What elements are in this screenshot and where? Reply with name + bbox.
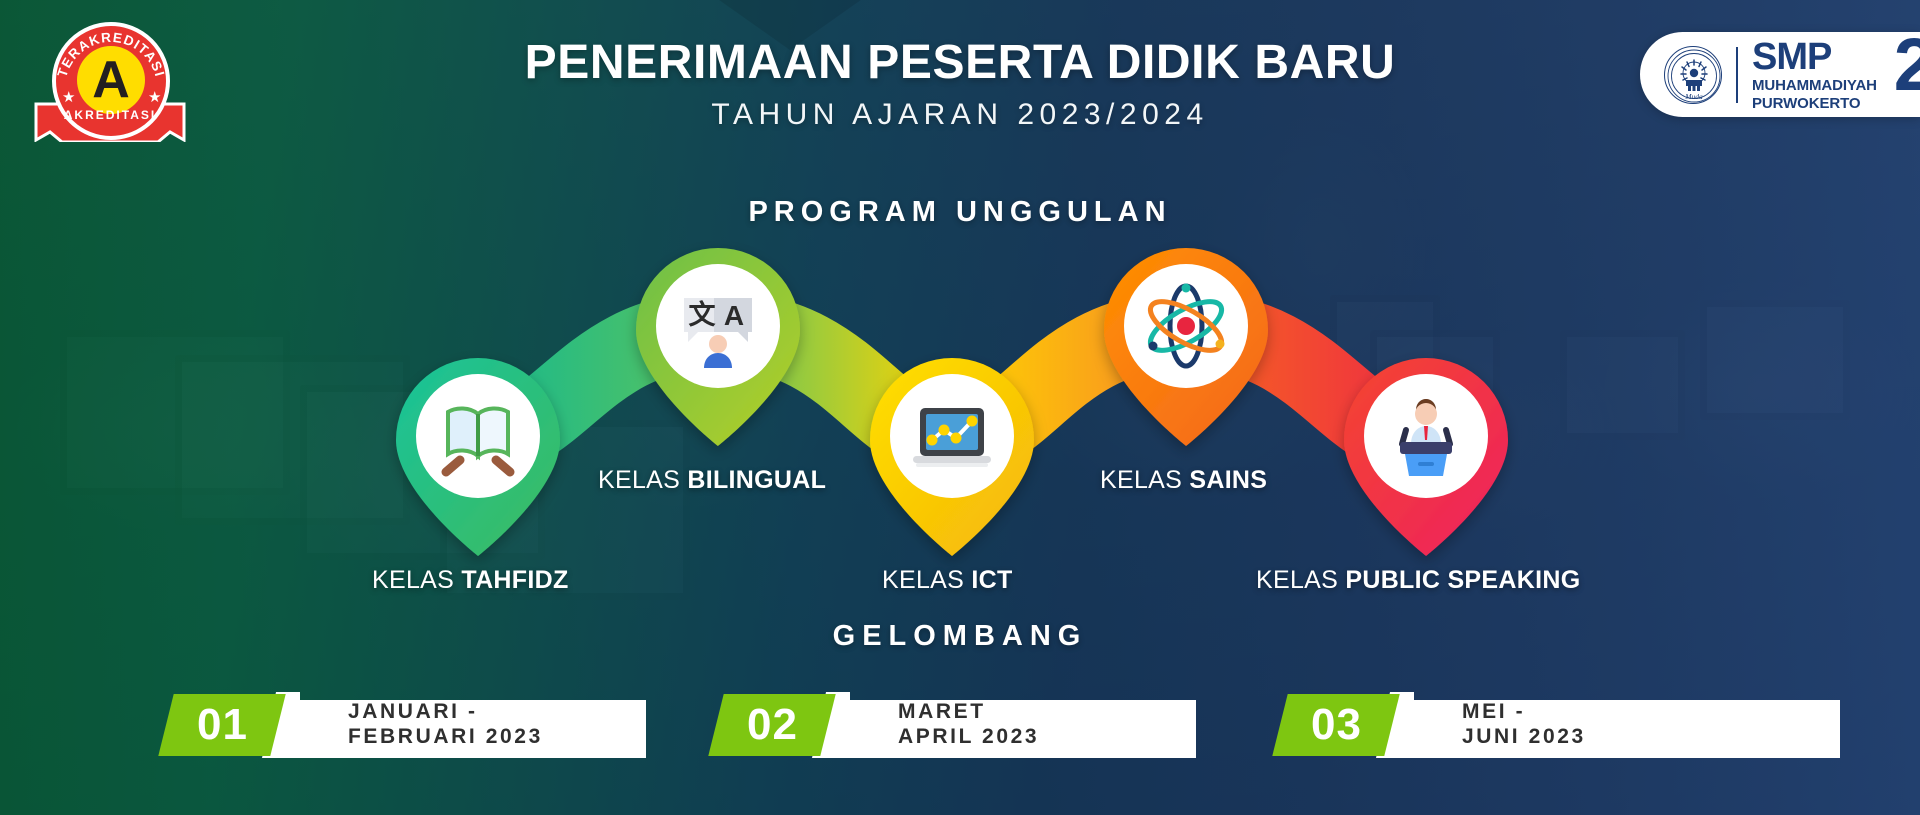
translate-icon: 文 A	[670, 278, 766, 374]
label-name: TAHFIDZ	[461, 566, 568, 594]
wave-banner: MARET APRIL 2023	[788, 692, 1196, 758]
pin-label-public-speaking: KELAS PUBLIC SPEAKING	[1256, 566, 1580, 595]
wave-banner: JANUARI - FEBRUARI 2023	[238, 692, 646, 758]
wave-number: 02	[747, 703, 798, 747]
waves-heading: GELOMBANG	[0, 620, 1920, 653]
label-name: PUBLIC SPEAKING	[1345, 566, 1580, 594]
wave-banner: MEI - JUNI 2023	[1352, 692, 1840, 758]
pin-label-sains: KELAS SAINS	[1100, 466, 1267, 495]
label-prefix: KELAS	[1256, 566, 1338, 594]
wave-item-2[interactable]: 02 MARET APRIL 2023	[716, 692, 1196, 758]
label-prefix: KELAS	[1100, 466, 1182, 494]
label-name: ICT	[971, 566, 1012, 594]
wave-number-badge: 01	[158, 694, 285, 756]
svg-text:文: 文	[689, 299, 717, 331]
accreditation-ribbon-label: AKREDITASI	[30, 108, 190, 122]
svg-text:A: A	[724, 300, 744, 331]
wave-item-1[interactable]: 01 JANUARI - FEBRUARI 2023	[166, 692, 646, 758]
label-name: BILINGUAL	[687, 466, 826, 494]
laptop-chart-icon	[904, 388, 1000, 484]
poster-canvas: TERAKREDITASI ★ ★ A AKREDITASI PENERIMAA…	[0, 0, 1920, 815]
podium-icon	[1378, 388, 1474, 484]
wave-item-3[interactable]: 03 MEI - JUNI 2023	[1280, 692, 1760, 758]
wave-period: MARET APRIL 2023	[898, 700, 1039, 750]
pin-label-ict: KELAS ICT	[882, 566, 1013, 595]
wave-number-badge: 03	[1272, 694, 1399, 756]
label-prefix: KELAS	[598, 466, 680, 494]
wave-number: 01	[197, 703, 248, 747]
pin-label-bilingual: KELAS BILINGUAL	[598, 466, 826, 495]
open-book-icon	[430, 388, 526, 484]
wave-period: MEI - JUNI 2023	[1462, 700, 1586, 750]
label-prefix: KELAS	[372, 566, 454, 594]
wave-period: JANUARI - FEBRUARI 2023	[348, 700, 543, 750]
label-prefix: KELAS	[882, 566, 964, 594]
wave-number-badge: 02	[708, 694, 835, 756]
atom-icon	[1138, 278, 1234, 374]
label-name: SAINS	[1189, 466, 1267, 494]
pin-label-tahfidz: KELAS TAHFIDZ	[372, 566, 569, 595]
wave-number: 03	[1311, 703, 1362, 747]
